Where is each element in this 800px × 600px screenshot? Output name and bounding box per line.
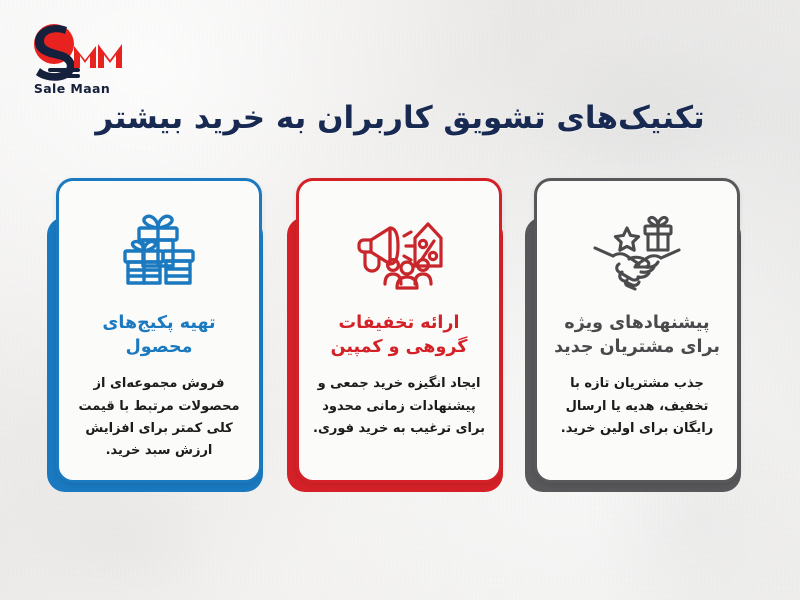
card-description: جذب مشتریان تازه با تخفیف، هدیه یا ارسال…: [549, 373, 725, 440]
technique-card-3[interactable]: پیشنهادهای ویژه برای مشتریان جدید جذب مش…: [530, 170, 746, 492]
card-title: تهیه پکیج‌های محصول: [71, 311, 247, 359]
gift-boxes-icon: [115, 203, 203, 295]
card-description: ایجاد انگیزه خرید جمعی و پیشنهادات زمانی…: [311, 373, 487, 440]
card-surface[interactable]: پیشنهادهای ویژه برای مشتریان جدید جذب مش…: [534, 178, 740, 483]
technique-card-2[interactable]: ارائه تخفیفات گروهی و کمپین ایجاد انگیزه…: [292, 170, 508, 492]
card-surface[interactable]: ارائه تخفیفات گروهی و کمپین ایجاد انگیزه…: [296, 178, 502, 483]
brand-wordmark: Sale Maan: [18, 81, 126, 96]
card-surface[interactable]: تهیه پکیج‌های محصول فروش مجموعه‌ای از مح…: [56, 178, 262, 483]
page-title: تکنیک‌های تشویق کاربران به خرید بیشتر: [0, 98, 800, 139]
infographic-page: Sale Maan تکنیک‌های تشویق کاربران به خری…: [0, 0, 800, 600]
handshake-gift-star-icon: [589, 203, 685, 295]
technique-card-1[interactable]: تهیه پکیج‌های محصول فروش مجموعه‌ای از مح…: [52, 170, 268, 492]
card-title: ارائه تخفیفات گروهی و کمپین: [311, 311, 487, 359]
brand-logo: Sale Maan: [18, 18, 126, 98]
card-title: پیشنهادهای ویژه برای مشتریان جدید: [549, 311, 725, 359]
technique-card-list: تهیه پکیج‌های محصول فروش مجموعه‌ای از مح…: [0, 170, 800, 500]
megaphone-discount-tag-group-icon: [353, 203, 445, 295]
card-description: فروش مجموعه‌ای از محصولات مرتبط با قیمت …: [71, 373, 247, 462]
sale-maan-monogram-icon: [18, 18, 126, 84]
